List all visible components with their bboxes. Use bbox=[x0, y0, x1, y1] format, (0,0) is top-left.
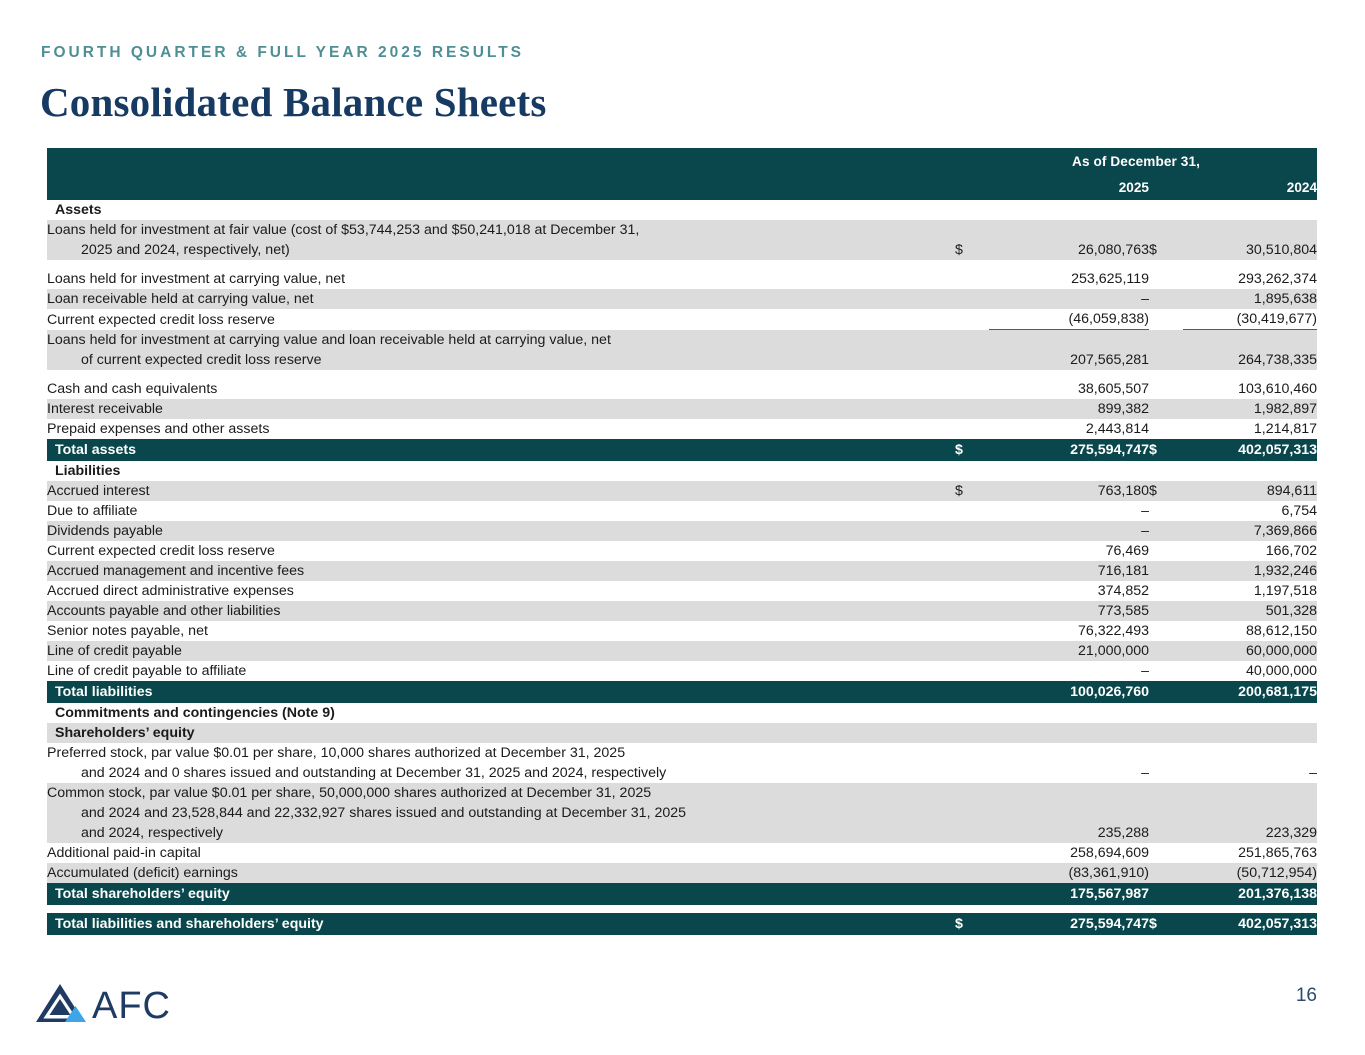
row-value-2025: (83,361,910) bbox=[989, 863, 1149, 883]
row-value-2025: 258,694,609 bbox=[989, 843, 1149, 863]
cell-sym1 bbox=[955, 843, 989, 863]
table-row-preferred-stock-line1: Preferred stock, par value $0.01 per sha… bbox=[47, 743, 1317, 763]
table-row-loans-net-cecl-line1: Loans held for investment at carrying va… bbox=[47, 330, 1317, 350]
column-header-2024: 2024 bbox=[1183, 174, 1317, 200]
balance-sheet-table-container: As of December 31, 2025 2024 Assets Loan bbox=[47, 148, 1317, 935]
currency-symbol-1: $ bbox=[955, 481, 989, 501]
currency-symbol-2: $ bbox=[1149, 481, 1183, 501]
table-row-additional-paid-in-capital: Additional paid-in capital 258,694,609 2… bbox=[47, 843, 1317, 863]
row-label: and 2024, respectively bbox=[47, 823, 955, 843]
cell-val2 bbox=[1183, 220, 1317, 240]
row-value-2024: 1,214,817 bbox=[1183, 419, 1317, 439]
table-row-preferred-stock: and 2024 and 0 shares issued and outstan… bbox=[47, 763, 1317, 783]
row-value-2025: 2,443,814 bbox=[989, 419, 1149, 439]
cell-sym1 bbox=[955, 703, 989, 723]
row-label: Current expected credit loss reserve bbox=[47, 309, 955, 330]
cell-sym2 bbox=[1149, 823, 1183, 843]
cell-sym2 bbox=[1149, 601, 1183, 621]
total-label: Total shareholders’ equity bbox=[47, 883, 955, 905]
row-label: and 2024 and 0 shares issued and outstan… bbox=[47, 763, 955, 783]
cell-sym2 bbox=[1149, 541, 1183, 561]
total-label: Total liabilities bbox=[47, 681, 955, 703]
cell-sym2 bbox=[1149, 379, 1183, 399]
total-label: Total assets bbox=[47, 439, 955, 461]
table-row-line-of-credit-affiliate: Line of credit payable to affiliate – 40… bbox=[47, 661, 1317, 681]
cell-sym2 bbox=[1149, 681, 1183, 703]
row-value-2025: – bbox=[989, 661, 1149, 681]
cell-sym1 bbox=[955, 289, 989, 309]
cell-val1 bbox=[989, 220, 1149, 240]
spacer-cell bbox=[47, 370, 1317, 379]
cell-sym1 bbox=[955, 269, 989, 289]
cell-sym1 bbox=[955, 863, 989, 883]
table-row-accrued-interest: Accrued interest $ 763,180 $ 894,611 bbox=[47, 481, 1317, 501]
row-label: Interest receivable bbox=[47, 399, 955, 419]
row-value-2025: 38,605,507 bbox=[989, 379, 1149, 399]
logo-wordmark: AFC bbox=[92, 985, 171, 1026]
row-label: Accrued management and incentive fees bbox=[47, 561, 955, 581]
table-row-total-liabilities-and-equity: Total liabilities and shareholders’ equi… bbox=[47, 913, 1317, 935]
row-label: Common stock, par value $0.01 per share,… bbox=[47, 783, 955, 803]
row-value-2025: 26,080,763 bbox=[989, 240, 1149, 260]
row-value-2025: 374,852 bbox=[989, 581, 1149, 601]
row-value-2024: (30,419,677) bbox=[1183, 309, 1317, 330]
cell-val2 bbox=[1183, 723, 1317, 743]
row-value-2025: 773,585 bbox=[989, 601, 1149, 621]
cell-sym2 bbox=[1149, 581, 1183, 601]
gap-row bbox=[47, 905, 1317, 913]
table-row-loan-receivable: Loan receivable held at carrying value, … bbox=[47, 289, 1317, 309]
section-heading-label: Assets bbox=[47, 200, 955, 220]
total-value-2025: 275,594,747 bbox=[989, 913, 1149, 935]
cell-val2 bbox=[1183, 200, 1317, 220]
header-as-of-label: As of December 31, bbox=[955, 148, 1317, 174]
row-value-2025: 76,322,493 bbox=[989, 621, 1149, 641]
row-label: Line of credit payable to affiliate bbox=[47, 661, 955, 681]
cell-sym1 bbox=[955, 783, 989, 803]
column-header-2025: 2025 bbox=[989, 174, 1149, 200]
row-value-2024: 6,754 bbox=[1183, 501, 1317, 521]
cell-val1 bbox=[989, 723, 1149, 743]
afc-logo-svg: AFC bbox=[30, 978, 230, 1026]
row-value-2024: 60,000,000 bbox=[1183, 641, 1317, 661]
cell-sym1 bbox=[955, 763, 989, 783]
cell-sym2 bbox=[1149, 561, 1183, 581]
cell-sym2 bbox=[1149, 783, 1183, 803]
header-spacer-cell bbox=[47, 148, 955, 174]
cell-sym2 bbox=[1149, 350, 1183, 370]
row-label: Cash and cash equivalents bbox=[47, 379, 955, 399]
row-value-2025: – bbox=[989, 521, 1149, 541]
row-label: Dividends payable bbox=[47, 521, 955, 541]
total-value-2024: 402,057,313 bbox=[1183, 439, 1317, 461]
table-row-total-liabilities: Total liabilities 100,026,760 200,681,17… bbox=[47, 681, 1317, 703]
row-label: Accounts payable and other liabilities bbox=[47, 601, 955, 621]
spacer-cell bbox=[47, 260, 1317, 269]
row-value-2024: 1,895,638 bbox=[1183, 289, 1317, 309]
row-value-2024: 30,510,804 bbox=[1183, 240, 1317, 260]
row-value-2024: 1,932,246 bbox=[1183, 561, 1317, 581]
row-value-2024: 251,865,763 bbox=[1183, 843, 1317, 863]
cell-sym2 bbox=[1149, 461, 1183, 481]
row-value-2025: – bbox=[989, 289, 1149, 309]
row-value-2024: – bbox=[1183, 763, 1317, 783]
row-value-2024: 88,612,150 bbox=[1183, 621, 1317, 641]
row-label: and 2024 and 23,528,844 and 22,332,927 s… bbox=[47, 803, 955, 823]
header-spacer-cell-2 bbox=[47, 174, 955, 200]
table-row-common-stock-line2: and 2024 and 23,528,844 and 22,332,927 s… bbox=[47, 803, 1317, 823]
cell-val2 bbox=[1183, 461, 1317, 481]
cell-sym2 bbox=[1149, 200, 1183, 220]
row-value-2025: 21,000,000 bbox=[989, 641, 1149, 661]
row-value-2025: – bbox=[989, 501, 1149, 521]
table-row-accumulated-deficit: Accumulated (deficit) earnings (83,361,9… bbox=[47, 863, 1317, 883]
table-row-loans-carrying-value: Loans held for investment at carrying va… bbox=[47, 269, 1317, 289]
cell-sym2 bbox=[1149, 703, 1183, 723]
table-row-common-stock: and 2024, respectively 235,288 223,329 bbox=[47, 823, 1317, 843]
cell-sym2 bbox=[1149, 641, 1183, 661]
currency-symbol-2: $ bbox=[1149, 240, 1183, 260]
row-label: Additional paid-in capital bbox=[47, 843, 955, 863]
cell-sym1 bbox=[955, 379, 989, 399]
table-row-loans-fair-value: 2025 and 2024, respectively, net) $ 26,0… bbox=[47, 240, 1317, 260]
row-value-2024: 894,611 bbox=[1183, 481, 1317, 501]
cell-val1 bbox=[989, 703, 1149, 723]
cell-sym1 bbox=[955, 581, 989, 601]
row-label: Accumulated (deficit) earnings bbox=[47, 863, 955, 883]
cell-sym1 bbox=[955, 743, 989, 763]
spacer-row bbox=[47, 370, 1317, 379]
cell-val2 bbox=[1183, 703, 1317, 723]
spacer-row bbox=[47, 260, 1317, 269]
cell-sym1 bbox=[955, 661, 989, 681]
cell-val2 bbox=[1183, 330, 1317, 350]
row-value-2024: 501,328 bbox=[1183, 601, 1317, 621]
cell-val1 bbox=[989, 200, 1149, 220]
row-label: Accrued interest bbox=[47, 481, 955, 501]
total-value-2024: 402,057,313 bbox=[1183, 913, 1317, 935]
cell-sym2 bbox=[1149, 419, 1183, 439]
cell-val2 bbox=[1183, 783, 1317, 803]
section-heading-commitments: Commitments and contingencies (Note 9) bbox=[47, 703, 1317, 723]
cell-sym2 bbox=[1149, 399, 1183, 419]
table-row-cash: Cash and cash equivalents 38,605,507 103… bbox=[47, 379, 1317, 399]
row-value-2025: 207,565,281 bbox=[989, 350, 1149, 370]
row-label: 2025 and 2024, respectively, net) bbox=[47, 240, 955, 260]
cell-sym2 bbox=[1149, 220, 1183, 240]
balance-sheet-table: As of December 31, 2025 2024 Assets Loan bbox=[47, 148, 1317, 935]
table-row-total-assets: Total assets $ 275,594,747 $ 402,057,313 bbox=[47, 439, 1317, 461]
currency-symbol-1: $ bbox=[955, 913, 989, 935]
row-value-2025: 235,288 bbox=[989, 823, 1149, 843]
cell-sym1 bbox=[955, 823, 989, 843]
currency-symbol-1: $ bbox=[955, 240, 989, 260]
cell-sym1 bbox=[955, 399, 989, 419]
section-heading-label: Liabilities bbox=[47, 461, 955, 481]
currency-symbol-2: $ bbox=[1149, 913, 1183, 935]
total-value-2024: 201,376,138 bbox=[1183, 883, 1317, 905]
cell-sym2 bbox=[1149, 763, 1183, 783]
cell-sym1 bbox=[955, 883, 989, 905]
cell-sym1 bbox=[955, 803, 989, 823]
row-label: Loans held for investment at carrying va… bbox=[47, 269, 955, 289]
row-label: Loans held for investment at fair value … bbox=[47, 220, 955, 240]
row-label: Due to affiliate bbox=[47, 501, 955, 521]
cell-sym1 bbox=[955, 561, 989, 581]
row-label: Preferred stock, par value $0.01 per sha… bbox=[47, 743, 955, 763]
page-number: 16 bbox=[1296, 985, 1317, 1007]
cell-sym2 bbox=[1149, 269, 1183, 289]
table-row-senior-notes: Senior notes payable, net 76,322,493 88,… bbox=[47, 621, 1317, 641]
cell-sym2 bbox=[1149, 330, 1183, 350]
cell-sym1 bbox=[955, 330, 989, 350]
cell-sym2 bbox=[1149, 309, 1183, 330]
header-sym-spacer-2 bbox=[1149, 174, 1183, 200]
table-row-total-shareholders-equity: Total shareholders’ equity 175,567,987 2… bbox=[47, 883, 1317, 905]
row-label: Prepaid expenses and other assets bbox=[47, 419, 955, 439]
row-label: Current expected credit loss reserve bbox=[47, 541, 955, 561]
cell-val2 bbox=[1183, 803, 1317, 823]
cell-val1 bbox=[989, 743, 1149, 763]
row-label: Loans held for investment at carrying va… bbox=[47, 330, 955, 350]
header-sym-spacer-1 bbox=[955, 174, 989, 200]
cell-val1 bbox=[989, 461, 1149, 481]
cell-sym2 bbox=[1149, 803, 1183, 823]
cell-sym2 bbox=[1149, 661, 1183, 681]
row-value-2024: 103,610,460 bbox=[1183, 379, 1317, 399]
cell-sym1 bbox=[955, 200, 989, 220]
cell-val1 bbox=[989, 783, 1149, 803]
row-label: Loan receivable held at carrying value, … bbox=[47, 289, 955, 309]
row-value-2024: 166,702 bbox=[1183, 541, 1317, 561]
cell-sym1 bbox=[955, 723, 989, 743]
total-value-2024: 200,681,175 bbox=[1183, 681, 1317, 703]
cell-sym1 bbox=[955, 220, 989, 240]
cell-sym1 bbox=[955, 461, 989, 481]
eyebrow-label: FOURTH QUARTER & FULL YEAR 2025 RESULTS bbox=[41, 44, 524, 62]
section-heading-liabilities: Liabilities bbox=[47, 461, 1317, 481]
section-heading-label: Shareholders’ equity bbox=[47, 723, 955, 743]
row-value-2024: 1,982,897 bbox=[1183, 399, 1317, 419]
table-row-loans-fair-value-line1: Loans held for investment at fair value … bbox=[47, 220, 1317, 240]
table-row-cecl-reserve-liability: Current expected credit loss reserve 76,… bbox=[47, 541, 1317, 561]
total-value-2025: 275,594,747 bbox=[989, 439, 1149, 461]
cell-sym1 bbox=[955, 541, 989, 561]
table-row-cecl-reserve-asset: Current expected credit loss reserve (46… bbox=[47, 309, 1317, 330]
cell-sym1 bbox=[955, 681, 989, 703]
cell-sym1 bbox=[955, 521, 989, 541]
page-title: Consolidated Balance Sheets bbox=[40, 78, 547, 126]
cell-sym2 bbox=[1149, 621, 1183, 641]
row-value-2024: 223,329 bbox=[1183, 823, 1317, 843]
cell-sym2 bbox=[1149, 883, 1183, 905]
gap-cell bbox=[47, 905, 1317, 913]
section-heading-assets: Assets bbox=[47, 200, 1317, 220]
table-row-common-stock-line1: Common stock, par value $0.01 per share,… bbox=[47, 783, 1317, 803]
total-label: Total liabilities and shareholders’ equi… bbox=[47, 913, 955, 935]
table-row-dividends-payable: Dividends payable – 7,369,866 bbox=[47, 521, 1317, 541]
row-value-2025: 763,180 bbox=[989, 481, 1149, 501]
row-label: Line of credit payable bbox=[47, 641, 955, 661]
row-value-2024: 293,262,374 bbox=[1183, 269, 1317, 289]
cell-sym1 bbox=[955, 621, 989, 641]
row-value-2024: 264,738,335 bbox=[1183, 350, 1317, 370]
table-row-management-fees: Accrued management and incentive fees 71… bbox=[47, 561, 1317, 581]
cell-sym2 bbox=[1149, 521, 1183, 541]
cell-sym1 bbox=[955, 419, 989, 439]
table-row-interest-receivable: Interest receivable 899,382 1,982,897 bbox=[47, 399, 1317, 419]
table-row-accounts-payable: Accounts payable and other liabilities 7… bbox=[47, 601, 1317, 621]
currency-symbol-2: $ bbox=[1149, 439, 1183, 461]
cell-sym2 bbox=[1149, 501, 1183, 521]
row-value-2025: 899,382 bbox=[989, 399, 1149, 419]
cell-val2 bbox=[1183, 743, 1317, 763]
cell-sym2 bbox=[1149, 863, 1183, 883]
row-value-2025: 716,181 bbox=[989, 561, 1149, 581]
cell-sym2 bbox=[1149, 743, 1183, 763]
table-header-row-asof: As of December 31, bbox=[47, 148, 1317, 174]
table-row-administrative-expenses: Accrued direct administrative expenses 3… bbox=[47, 581, 1317, 601]
table-row-due-to-affiliate: Due to affiliate – 6,754 bbox=[47, 501, 1317, 521]
table-row-loans-net-cecl: of current expected credit loss reserve … bbox=[47, 350, 1317, 370]
row-label: of current expected credit loss reserve bbox=[47, 350, 955, 370]
total-value-2025: 175,567,987 bbox=[989, 883, 1149, 905]
cell-sym1 bbox=[955, 309, 989, 330]
currency-symbol-1: $ bbox=[955, 439, 989, 461]
row-label: Accrued direct administrative expenses bbox=[47, 581, 955, 601]
cell-sym1 bbox=[955, 601, 989, 621]
row-value-2025: 76,469 bbox=[989, 541, 1149, 561]
cell-sym1 bbox=[955, 641, 989, 661]
table-header-row-years: 2025 2024 bbox=[47, 174, 1317, 200]
row-value-2024: 40,000,000 bbox=[1183, 661, 1317, 681]
row-value-2024: 1,197,518 bbox=[1183, 581, 1317, 601]
row-value-2024: (50,712,954) bbox=[1183, 863, 1317, 883]
row-label: Senior notes payable, net bbox=[47, 621, 955, 641]
table-row-prepaid-expenses: Prepaid expenses and other assets 2,443,… bbox=[47, 419, 1317, 439]
cell-val1 bbox=[989, 803, 1149, 823]
cell-sym2 bbox=[1149, 843, 1183, 863]
cell-sym1 bbox=[955, 350, 989, 370]
cell-val1 bbox=[989, 330, 1149, 350]
table-row-line-of-credit: Line of credit payable 21,000,000 60,000… bbox=[47, 641, 1317, 661]
slide-consolidated-balance-sheets: FOURTH QUARTER & FULL YEAR 2025 RESULTS … bbox=[0, 0, 1365, 1055]
afc-logo: AFC bbox=[30, 978, 230, 1026]
cell-sym2 bbox=[1149, 723, 1183, 743]
row-value-2025: – bbox=[989, 763, 1149, 783]
cell-sym1 bbox=[955, 501, 989, 521]
section-heading-shareholders-equity: Shareholders’ equity bbox=[47, 723, 1317, 743]
cell-sym2 bbox=[1149, 289, 1183, 309]
total-value-2025: 100,026,760 bbox=[989, 681, 1149, 703]
section-heading-label: Commitments and contingencies (Note 9) bbox=[47, 703, 955, 723]
row-value-2025: 253,625,119 bbox=[989, 269, 1149, 289]
row-value-2024: 7,369,866 bbox=[1183, 521, 1317, 541]
row-value-2025: (46,059,838) bbox=[989, 309, 1149, 330]
